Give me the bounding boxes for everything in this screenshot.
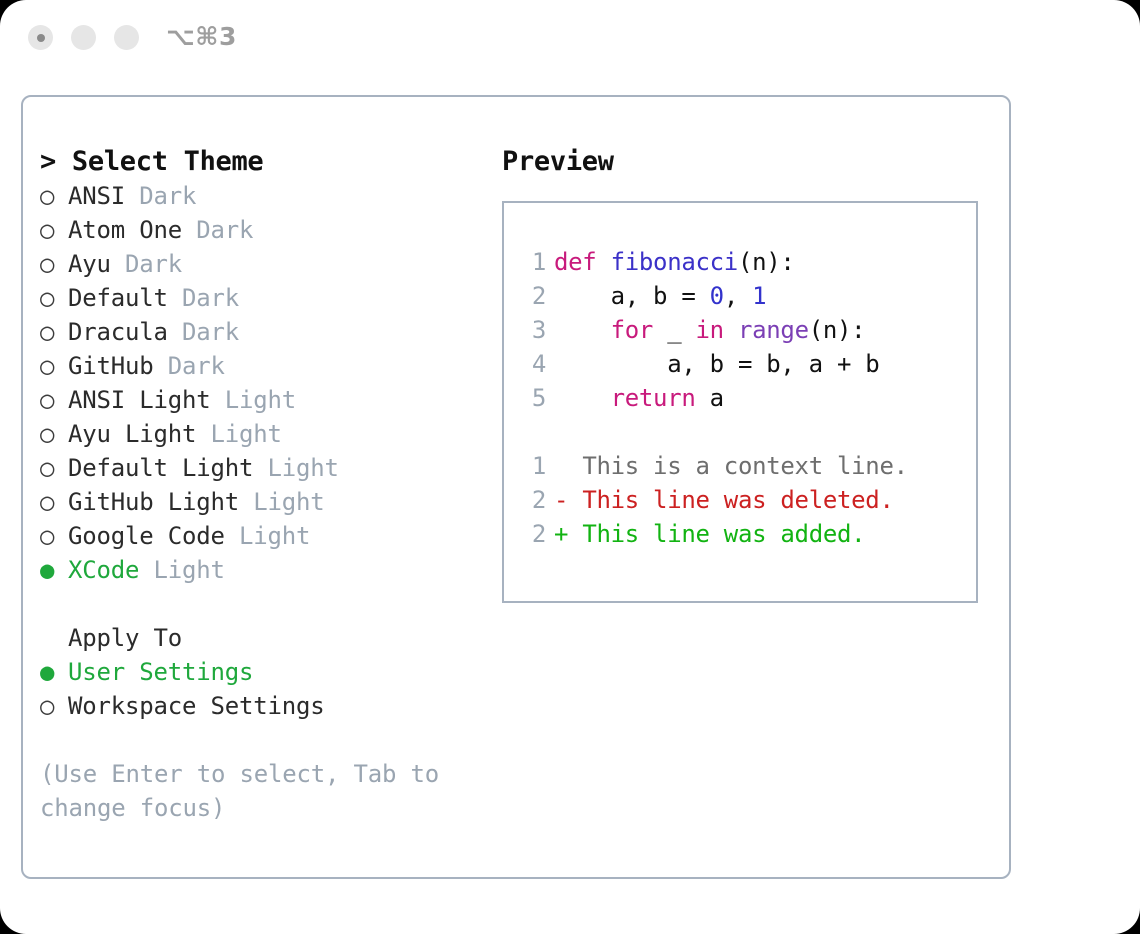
spacer <box>168 318 182 346</box>
spacer <box>253 454 267 482</box>
radio-unselected-icon: ○ <box>40 315 68 349</box>
diff-text: This line was added. <box>582 520 865 548</box>
code-token: _ <box>653 316 695 344</box>
code-token: a <box>696 384 724 412</box>
radio-unselected-icon: ○ <box>40 213 68 247</box>
radio-unselected-icon: ○ <box>40 689 68 723</box>
section-spacer <box>40 587 470 621</box>
theme-list-item[interactable]: ○GitHub Dark <box>40 349 470 383</box>
code-token: , <box>724 282 752 310</box>
theme-list-item[interactable]: ○Atom One Dark <box>40 213 470 247</box>
code-preview: 1def fibonacci(n):2 a, b = 0, 13 for _ i… <box>522 245 908 551</box>
theme-list-column: > Select Theme ○ANSI Dark○Atom One Dark○… <box>40 145 470 825</box>
code-token: (n): <box>809 316 866 344</box>
theme-kind-badge: Dark <box>196 216 253 244</box>
code-line-number: 2 <box>522 517 546 551</box>
keybind-label: ⌥⌘3 <box>166 22 237 51</box>
prompt-caret: > <box>40 146 72 177</box>
code-token: range <box>738 316 809 344</box>
theme-kind-badge: Dark <box>182 284 239 312</box>
theme-kind-badge: Dark <box>125 250 182 278</box>
code-line-number: 2 <box>522 483 546 517</box>
radio-unselected-icon: ○ <box>40 417 68 451</box>
spacer <box>239 488 253 516</box>
theme-list-item[interactable]: ○Default Light Light <box>40 451 470 485</box>
theme-list-item[interactable]: ○Google Code Light <box>40 519 470 553</box>
code-line: 3 for _ in range(n): <box>522 313 908 347</box>
radio-unselected-icon: ○ <box>40 179 68 213</box>
theme-kind-badge: Light <box>211 420 282 448</box>
window-dot-minimize[interactable] <box>71 25 96 50</box>
keyboard-hint: (Use Enter to select, Tab to change focu… <box>40 757 440 825</box>
code-token: in <box>696 316 724 344</box>
radio-unselected-icon: ○ <box>40 349 68 383</box>
apply-to-list: ●User Settings○Workspace Settings <box>40 655 470 723</box>
code-line: 2 a, b = 0, 1 <box>522 279 908 313</box>
theme-name: Default <box>68 284 168 312</box>
radio-selected-icon: ● <box>40 655 68 689</box>
code-token: def <box>554 248 611 276</box>
diff-sign <box>554 452 582 480</box>
code-token <box>554 384 611 412</box>
theme-name: GitHub <box>68 352 154 380</box>
code-blank-line <box>522 415 908 449</box>
theme-list-item[interactable]: ○Default Dark <box>40 281 470 315</box>
select-theme-header: > Select Theme <box>40 145 470 179</box>
radio-unselected-icon: ○ <box>40 281 68 315</box>
spacer <box>225 522 239 550</box>
spacer <box>168 284 182 312</box>
theme-kind-badge: Light <box>268 454 339 482</box>
diff-text: This line was deleted. <box>582 486 893 514</box>
theme-kind-badge: Light <box>225 386 296 414</box>
apply-to-label: Apply To <box>68 624 182 652</box>
code-line-number: 1 <box>522 449 546 483</box>
code-line-number: 4 <box>522 347 546 381</box>
spacer <box>196 420 210 448</box>
code-token: (n): <box>738 248 795 276</box>
preview-title: Preview <box>502 145 992 179</box>
window-dot-inner <box>37 34 45 42</box>
radio-unselected-icon: ○ <box>40 519 68 553</box>
theme-name: Ayu Light <box>68 420 196 448</box>
window-controls <box>28 25 139 50</box>
radio-selected-icon: ● <box>40 553 68 587</box>
spacer <box>154 352 168 380</box>
code-token: return <box>611 384 696 412</box>
code-line-number: 1 <box>522 245 546 279</box>
radio-unselected-icon: ○ <box>40 451 68 485</box>
app-window: ⌥⌘3 > Select Theme ○ANSI Dark○Atom One D… <box>0 0 1140 934</box>
theme-name: Ayu <box>68 250 111 278</box>
theme-kind-badge: Dark <box>139 182 196 210</box>
code-line-number: 3 <box>522 313 546 347</box>
window-dot-close[interactable] <box>28 25 53 50</box>
window-dot-maximize[interactable] <box>114 25 139 50</box>
diff-text: This is a context line. <box>582 452 907 480</box>
theme-name: GitHub Light <box>68 488 239 516</box>
spacer <box>111 250 125 278</box>
apply-to-item[interactable]: ●User Settings <box>40 655 470 689</box>
code-token: 0 <box>710 282 724 310</box>
theme-list-item[interactable]: ○Ayu Light Light <box>40 417 470 451</box>
theme-kind-badge: Dark <box>182 318 239 346</box>
diff-sign: - <box>554 486 582 514</box>
theme-list-item[interactable]: ○ANSI Dark <box>40 179 470 213</box>
code-token: a, b = b, a + b <box>554 350 879 378</box>
theme-picker-panel: > Select Theme ○ANSI Dark○Atom One Dark○… <box>21 95 1011 879</box>
diff-line: 2- This line was deleted. <box>522 483 908 517</box>
theme-name: Atom One <box>68 216 182 244</box>
theme-list-item[interactable]: ○ANSI Light Light <box>40 383 470 417</box>
code-token <box>724 316 738 344</box>
code-line: 1def fibonacci(n): <box>522 245 908 279</box>
radio-unselected-icon: ○ <box>40 247 68 281</box>
spacer <box>139 556 153 584</box>
theme-list-item[interactable]: ○Ayu Dark <box>40 247 470 281</box>
theme-name: Google Code <box>68 522 225 550</box>
theme-kind-badge: Light <box>154 556 225 584</box>
title-bar: ⌥⌘3 <box>0 0 1140 78</box>
theme-kind-badge: Light <box>253 488 324 516</box>
diff-line: 1 This is a context line. <box>522 449 908 483</box>
apply-to-item[interactable]: ○Workspace Settings <box>40 689 470 723</box>
code-token: fibonacci <box>611 248 738 276</box>
theme-name: ANSI <box>68 182 125 210</box>
theme-kind-badge: Dark <box>168 352 225 380</box>
theme-name: ANSI Light <box>68 386 211 414</box>
spacer <box>211 386 225 414</box>
preview-box: 1def fibonacci(n):2 a, b = 0, 13 for _ i… <box>502 201 978 603</box>
diff-line: 2+ This line was added. <box>522 517 908 551</box>
code-token: 1 <box>752 282 766 310</box>
spacer <box>125 182 139 210</box>
spacer <box>182 216 196 244</box>
diff-sign: + <box>554 520 582 548</box>
preview-column: Preview 1def fibonacci(n):2 a, b = 0, 13… <box>502 145 992 603</box>
code-token: a, b = <box>554 282 710 310</box>
code-token <box>554 316 611 344</box>
select-theme-label: Select Theme <box>72 146 263 177</box>
radio-unselected-icon: ○ <box>40 485 68 519</box>
panel-columns: > Select Theme ○ANSI Dark○Atom One Dark○… <box>23 97 1009 877</box>
theme-list-item[interactable]: ○Dracula Dark <box>40 315 470 349</box>
code-line: 4 a, b = b, a + b <box>522 347 908 381</box>
theme-name: Default Light <box>68 454 253 482</box>
theme-list-item[interactable]: ○GitHub Light Light <box>40 485 470 519</box>
apply-to-header: Apply To <box>40 621 470 655</box>
code-token: for <box>611 316 653 344</box>
theme-name: XCode <box>68 556 139 584</box>
theme-name: Dracula <box>68 318 168 346</box>
code-line: 5 return a <box>522 381 908 415</box>
theme-list-item[interactable]: ●XCode Light <box>40 553 470 587</box>
apply-to-option-label: User Settings <box>68 658 253 686</box>
theme-list: ○ANSI Dark○Atom One Dark○Ayu Dark○Defaul… <box>40 179 470 587</box>
radio-unselected-icon: ○ <box>40 383 68 417</box>
apply-to-option-label: Workspace Settings <box>68 692 325 720</box>
code-line-number: 5 <box>522 381 546 415</box>
code-line-number: 2 <box>522 279 546 313</box>
theme-kind-badge: Light <box>239 522 310 550</box>
